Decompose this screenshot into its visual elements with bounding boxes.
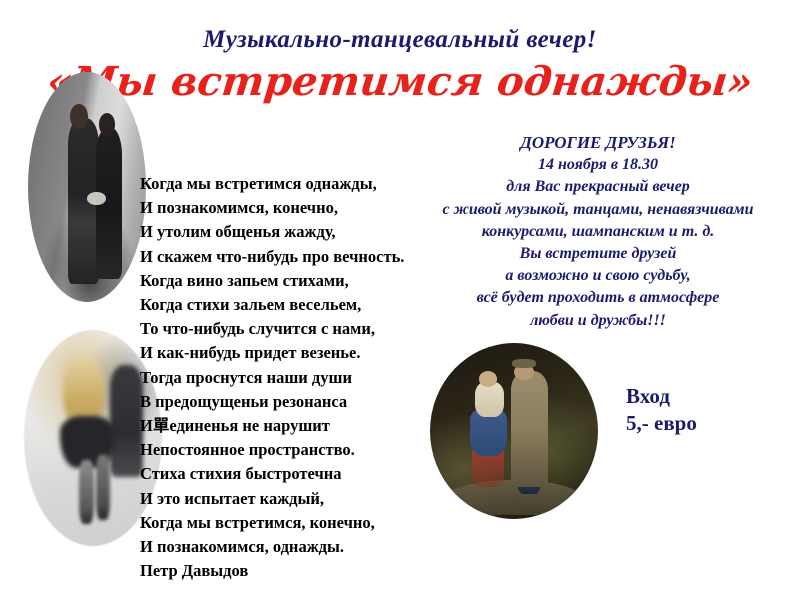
invitation-block: ДОРОГИЕ ДРУЗЬЯ! 14 ноября в 18.30 для Ва… — [398, 132, 798, 332]
poem-line: Непостоянное пространство. — [140, 438, 440, 462]
price-amount: 5,- евро — [626, 410, 697, 437]
poem-block: Когда мы встретимся однажды, И познакоми… — [140, 172, 440, 583]
painting-woman-bodice — [475, 382, 504, 417]
invitation-line: любви и дружбы!!! — [398, 310, 798, 332]
invitation-line: конкурсами, шампанским и т. д. — [398, 221, 798, 243]
poem-line: В предощущеньи резонанса — [140, 390, 440, 414]
invitation-line: 14 ноября в 18.30 — [398, 154, 798, 176]
poem-line: То что-нибудь случится с нами, — [140, 317, 440, 341]
poem-line: И утолим общенья жажду, — [140, 220, 440, 244]
photo-couple-standing — [28, 72, 146, 302]
invitation-line: ДОРОГИЕ ДРУЗЬЯ! — [398, 132, 798, 154]
poem-line: Когда мы встретимся однажды, — [140, 172, 440, 196]
poem-line: Когда стихи зальем весельем, — [140, 293, 440, 317]
poster-canvas: Музыкально-танцевальный вечер! «Мы встре… — [0, 0, 800, 600]
poem-author: Петр Давыдов — [140, 559, 440, 583]
poem-line: Стиха стихия быстротечна — [140, 462, 440, 486]
dancer-leg-right — [96, 455, 110, 520]
figure-hands — [87, 192, 106, 206]
poem-line: И познакомимся, конечно, — [140, 196, 440, 220]
poem-line: И單единенья не нарушит — [140, 414, 440, 438]
invitation-line: для Вас прекрасный вечер — [398, 176, 798, 198]
price-label: Вход — [626, 383, 697, 410]
poster-heading-primary: Музыкально-танцевальный вечер! — [0, 26, 800, 54]
invitation-line: Вы встретите друзей — [398, 243, 798, 265]
invitation-line: всё будет проходить в атмосфере — [398, 287, 798, 309]
dancer-partner — [110, 365, 143, 477]
dancer-leg-left — [79, 460, 94, 525]
poem-line: И как-нибудь придет везенье. — [140, 341, 440, 365]
painting-woman-head — [479, 371, 497, 387]
poem-line: И познакомимся, однажды. — [140, 535, 440, 559]
poem-line: Когда мы встретимся, конечно, — [140, 511, 440, 535]
price-block: Вход 5,- евро — [626, 383, 697, 437]
poem-line: Тогда проснутся наши души — [140, 366, 440, 390]
painting-man-hat — [512, 359, 536, 368]
photo-oval-painting — [430, 343, 598, 519]
painting-man-coat — [511, 371, 548, 487]
invitation-line: а возможно и свою судьбу, — [398, 265, 798, 287]
poem-line: Когда вино запьем стихами, — [140, 269, 440, 293]
poem-line: И скажем что-нибудь про вечность. — [140, 245, 440, 269]
poem-line: И это испытает каждый, — [140, 487, 440, 511]
invitation-line: с живой музыкой, танцами, ненавязчивами — [398, 199, 798, 221]
